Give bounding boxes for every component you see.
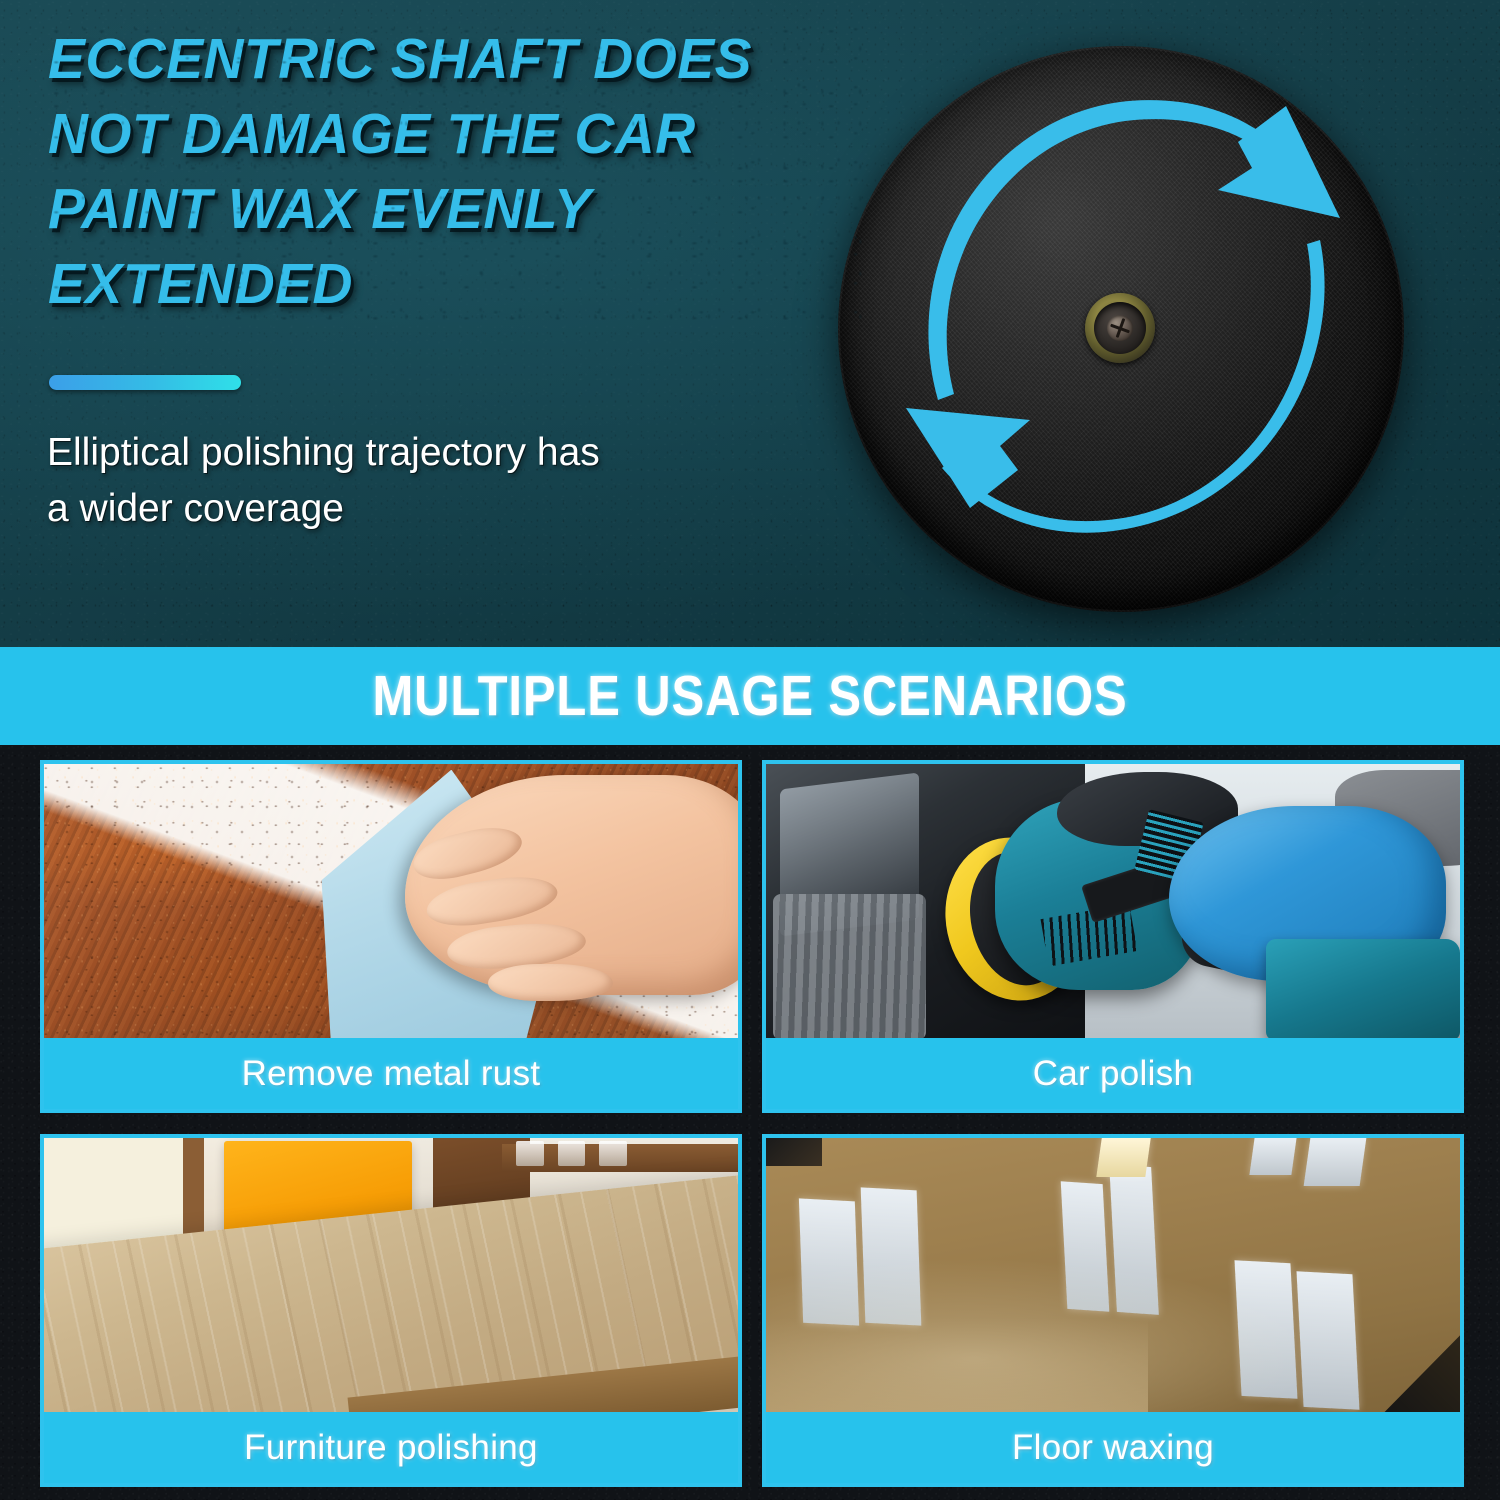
section-banner: MULTIPLE USAGE SCENARIOS	[0, 647, 1500, 745]
hero-subtext: Elliptical polishing trajectory has a wi…	[47, 425, 747, 537]
subtext-line-1: Elliptical polishing trajectory has	[47, 425, 747, 481]
scenario-caption-text: Furniture polishing	[244, 1428, 538, 1468]
scenario-caption: Floor waxing	[766, 1412, 1460, 1483]
scenario-card-car-polish[interactable]: Car polish	[762, 760, 1464, 1113]
polishing-pad-diagram	[820, 28, 1420, 628]
scenario-card-remove-metal-rust[interactable]: Remove metal rust	[40, 760, 742, 1113]
headline-line-2: NOT DAMAGE THE CAR	[48, 97, 873, 172]
scenario-caption-text: Remove metal rust	[242, 1054, 541, 1094]
rust-removal-photo	[44, 764, 738, 1046]
scenarios-section: Remove metal rust	[0, 745, 1500, 1500]
car-polishing-photo	[766, 764, 1460, 1046]
hero-section: ECCENTRIC SHAFT DOES NOT DAMAGE THE CAR …	[0, 0, 1500, 647]
scenario-caption: Car polish	[766, 1038, 1460, 1109]
headline-line-4: EXTENDED	[48, 247, 873, 322]
scenario-grid: Remove metal rust	[40, 760, 1464, 1487]
scenario-caption-text: Floor waxing	[1012, 1428, 1214, 1468]
subtext-line-2: a wider coverage	[47, 481, 747, 537]
headline-line-3: PAINT WAX EVENLY	[48, 172, 873, 247]
scenario-card-floor-waxing[interactable]: Floor waxing	[762, 1134, 1464, 1487]
scenario-caption: Furniture polishing	[44, 1412, 738, 1483]
headline: ECCENTRIC SHAFT DOES NOT DAMAGE THE CAR …	[48, 22, 898, 322]
scenario-caption-text: Car polish	[1033, 1054, 1194, 1094]
scenario-caption: Remove metal rust	[44, 1038, 738, 1109]
scenario-card-furniture-polishing[interactable]: Furniture polishing	[40, 1134, 742, 1487]
accent-divider	[49, 375, 241, 390]
wood-table-photo	[44, 1138, 738, 1420]
glossy-floor-photo	[766, 1138, 1460, 1420]
banner-title: MULTIPLE USAGE SCENARIOS	[372, 663, 1127, 729]
battery-pack	[1266, 939, 1460, 1041]
product-feature-image: ECCENTRIC SHAFT DOES NOT DAMAGE THE CAR …	[0, 0, 1500, 1500]
rotation-arrows-icon	[820, 28, 1420, 628]
headline-line-1: ECCENTRIC SHAFT DOES	[48, 22, 873, 97]
